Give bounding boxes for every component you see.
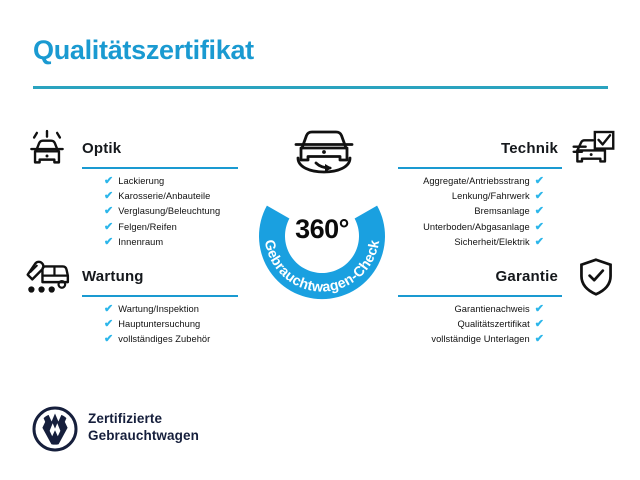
car-360-rotation-icon (286, 122, 362, 180)
car-front-shine-icon (24, 128, 74, 170)
list-item-label: vollständiges Zubehör (118, 334, 210, 344)
check-icon: ✔ (535, 302, 544, 317)
checklist-optik: ✔Lackierung ✔Karosserie/Anbauteile ✔Verg… (104, 174, 220, 250)
list-item-label: Wartung/Inspektion (118, 304, 199, 314)
list-item: Aggregate/Antriebsstrang✔ (423, 174, 544, 189)
list-item: Unterboden/Abgasanlage✔ (423, 220, 544, 235)
checklist-wartung: ✔Wartung/Inspektion ✔Hauptuntersuchung ✔… (104, 302, 210, 348)
list-item: Bremsanlage✔ (423, 204, 544, 219)
list-item-label: Lackierung (118, 176, 164, 186)
check-icon: ✔ (535, 204, 544, 219)
list-item: Lenkung/Fahrwerk✔ (423, 189, 544, 204)
check-icon: ✔ (104, 235, 113, 250)
page-title: Qualitätszertifikat (33, 35, 254, 66)
check-icon: ✔ (535, 189, 544, 204)
shield-check-icon (566, 256, 616, 298)
check-icon: ✔ (104, 220, 113, 235)
list-item-label: Qualitätszertifikat (457, 319, 529, 329)
check-icon: ✔ (535, 317, 544, 332)
vw-brand-line-2: Gebrauchtwagen (88, 427, 199, 444)
list-item: ✔Wartung/Inspektion (104, 302, 210, 317)
list-item: ✔Karosserie/Anbauteile (104, 189, 220, 204)
car-service-wrench-icon (24, 256, 74, 298)
list-item: vollständige Unterlagen✔ (431, 332, 544, 347)
check-icon: ✔ (104, 302, 113, 317)
section-title-garantie: Garantie (496, 268, 558, 285)
list-item: ✔Lackierung (104, 174, 220, 189)
check-icon: ✔ (535, 235, 544, 250)
badge-center-label: 360° (240, 214, 404, 245)
vw-brand-lockup: Zertifizierte Gebrauchtwagen (32, 404, 292, 458)
list-item-label: Sicherheit/Elektrik (454, 237, 529, 247)
list-item-label: Bremsanlage (474, 206, 529, 216)
list-item: Qualitätszertifikat✔ (431, 317, 544, 332)
list-item-label: Verglasung/Beleuchtung (118, 206, 220, 216)
check-icon: ✔ (535, 174, 544, 189)
list-item-label: Aggregate/Antriebsstrang (423, 176, 530, 186)
title-divider (33, 86, 608, 89)
vw-brand-text: Zertifizierte Gebrauchtwagen (88, 410, 199, 444)
check-icon: ✔ (104, 189, 113, 204)
section-title-optik: Optik (82, 140, 121, 157)
section-divider-optik (82, 167, 238, 169)
volkswagen-logo (32, 406, 78, 452)
quality-certificate-page: Qualitätszertifikat Optik (0, 0, 640, 480)
list-item-label: Unterboden/Abgasanlage (423, 222, 530, 232)
check-icon: ✔ (535, 332, 544, 347)
list-item: ✔Innenraum (104, 235, 220, 250)
section-title-technik: Technik (501, 140, 558, 157)
check-icon: ✔ (535, 220, 544, 235)
gebrauchtwagen-check-badge: Gebrauchtwagen-Check 360° (240, 122, 404, 308)
check-icon: ✔ (104, 332, 113, 347)
list-item-label: Garantienachweis (455, 304, 530, 314)
car-front-checkbox-icon (566, 128, 616, 170)
checklist-technik: Aggregate/Antriebsstrang✔ Lenkung/Fahrwe… (423, 174, 544, 250)
list-item: ✔Hauptuntersuchung (104, 317, 210, 332)
section-title-wartung: Wartung (82, 268, 144, 285)
list-item: ✔Felgen/Reifen (104, 220, 220, 235)
section-divider-wartung (82, 295, 238, 297)
list-item: ✔vollständiges Zubehör (104, 332, 210, 347)
check-icon: ✔ (104, 317, 113, 332)
check-icon: ✔ (104, 204, 113, 219)
list-item-label: Lenkung/Fahrwerk (452, 191, 530, 201)
section-divider-garantie (398, 295, 562, 297)
list-item-label: Felgen/Reifen (118, 222, 177, 232)
list-item: Sicherheit/Elektrik✔ (423, 235, 544, 250)
section-divider-technik (398, 167, 562, 169)
list-item-label: Innenraum (118, 237, 163, 247)
list-item-label: vollständige Unterlagen (431, 334, 529, 344)
vw-brand-line-1: Zertifizierte (88, 410, 199, 427)
list-item-label: Karosserie/Anbauteile (118, 191, 210, 201)
checklist-garantie: Garantienachweis✔ Qualitätszertifikat✔ v… (431, 302, 544, 348)
list-item: ✔Verglasung/Beleuchtung (104, 204, 220, 219)
check-icon: ✔ (104, 174, 113, 189)
list-item: Garantienachweis✔ (431, 302, 544, 317)
list-item-label: Hauptuntersuchung (118, 319, 200, 329)
